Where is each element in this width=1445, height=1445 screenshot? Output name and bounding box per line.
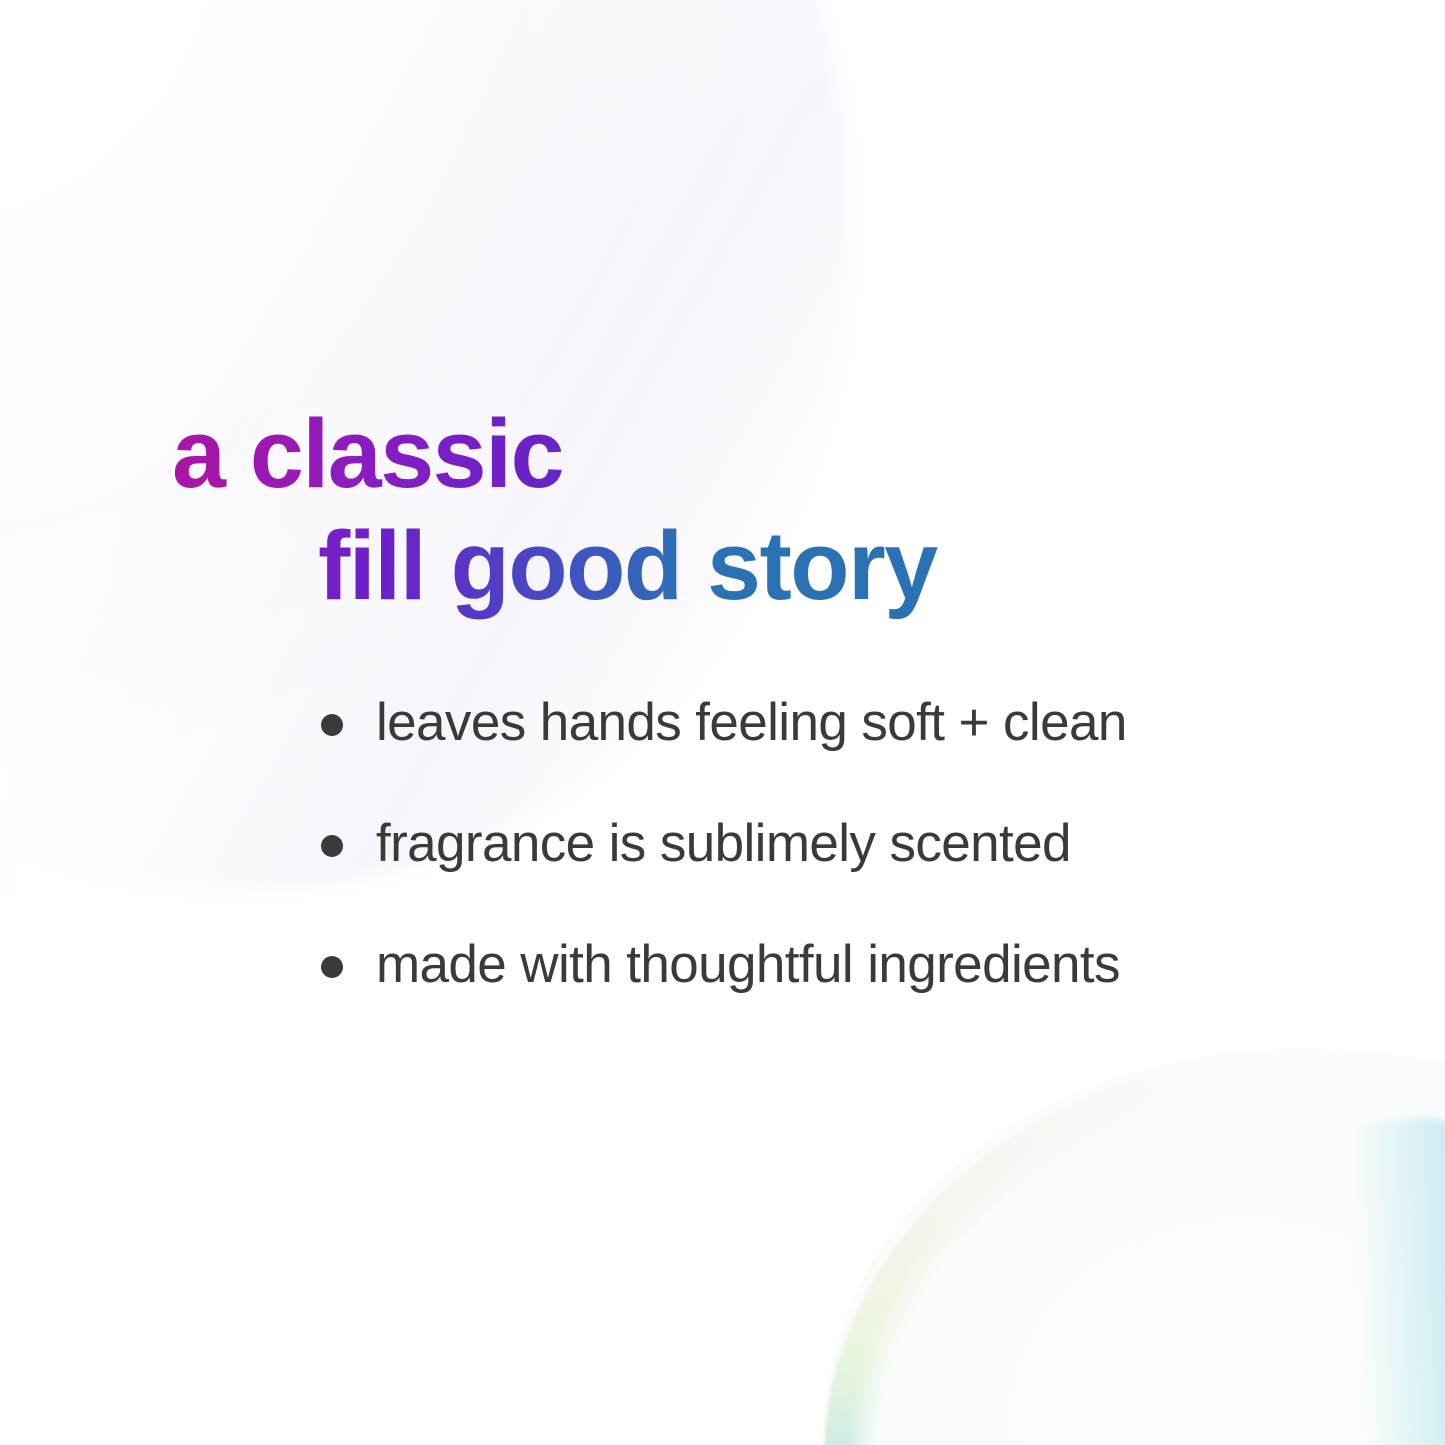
list-item: fragrance is sublimely scented — [318, 802, 1318, 886]
headline-line-1: a classic — [0, 398, 1445, 510]
list-item-label: fragrance is sublimely scented — [376, 802, 1318, 886]
list-item: leaves hands feeling soft + clean — [318, 681, 1318, 765]
list-item-label: made with thoughtful ingredients — [376, 923, 1318, 1007]
bullet-dot-icon — [321, 956, 343, 978]
headline-line-2: fill good story — [0, 510, 1445, 622]
bullet-dot-icon — [321, 835, 343, 857]
list-item-label: leaves hands feeling soft + clean — [376, 681, 1318, 765]
headline: a classic fill good story — [0, 398, 1445, 622]
card-content: a classic fill good story leaves hands f… — [0, 0, 1445, 1445]
feature-list: leaves hands feeling soft + clean fragra… — [318, 681, 1318, 1007]
bullet-dot-icon — [321, 714, 343, 736]
list-item: made with thoughtful ingredients — [318, 923, 1318, 1007]
marketing-card: a classic fill good story leaves hands f… — [0, 0, 1445, 1445]
